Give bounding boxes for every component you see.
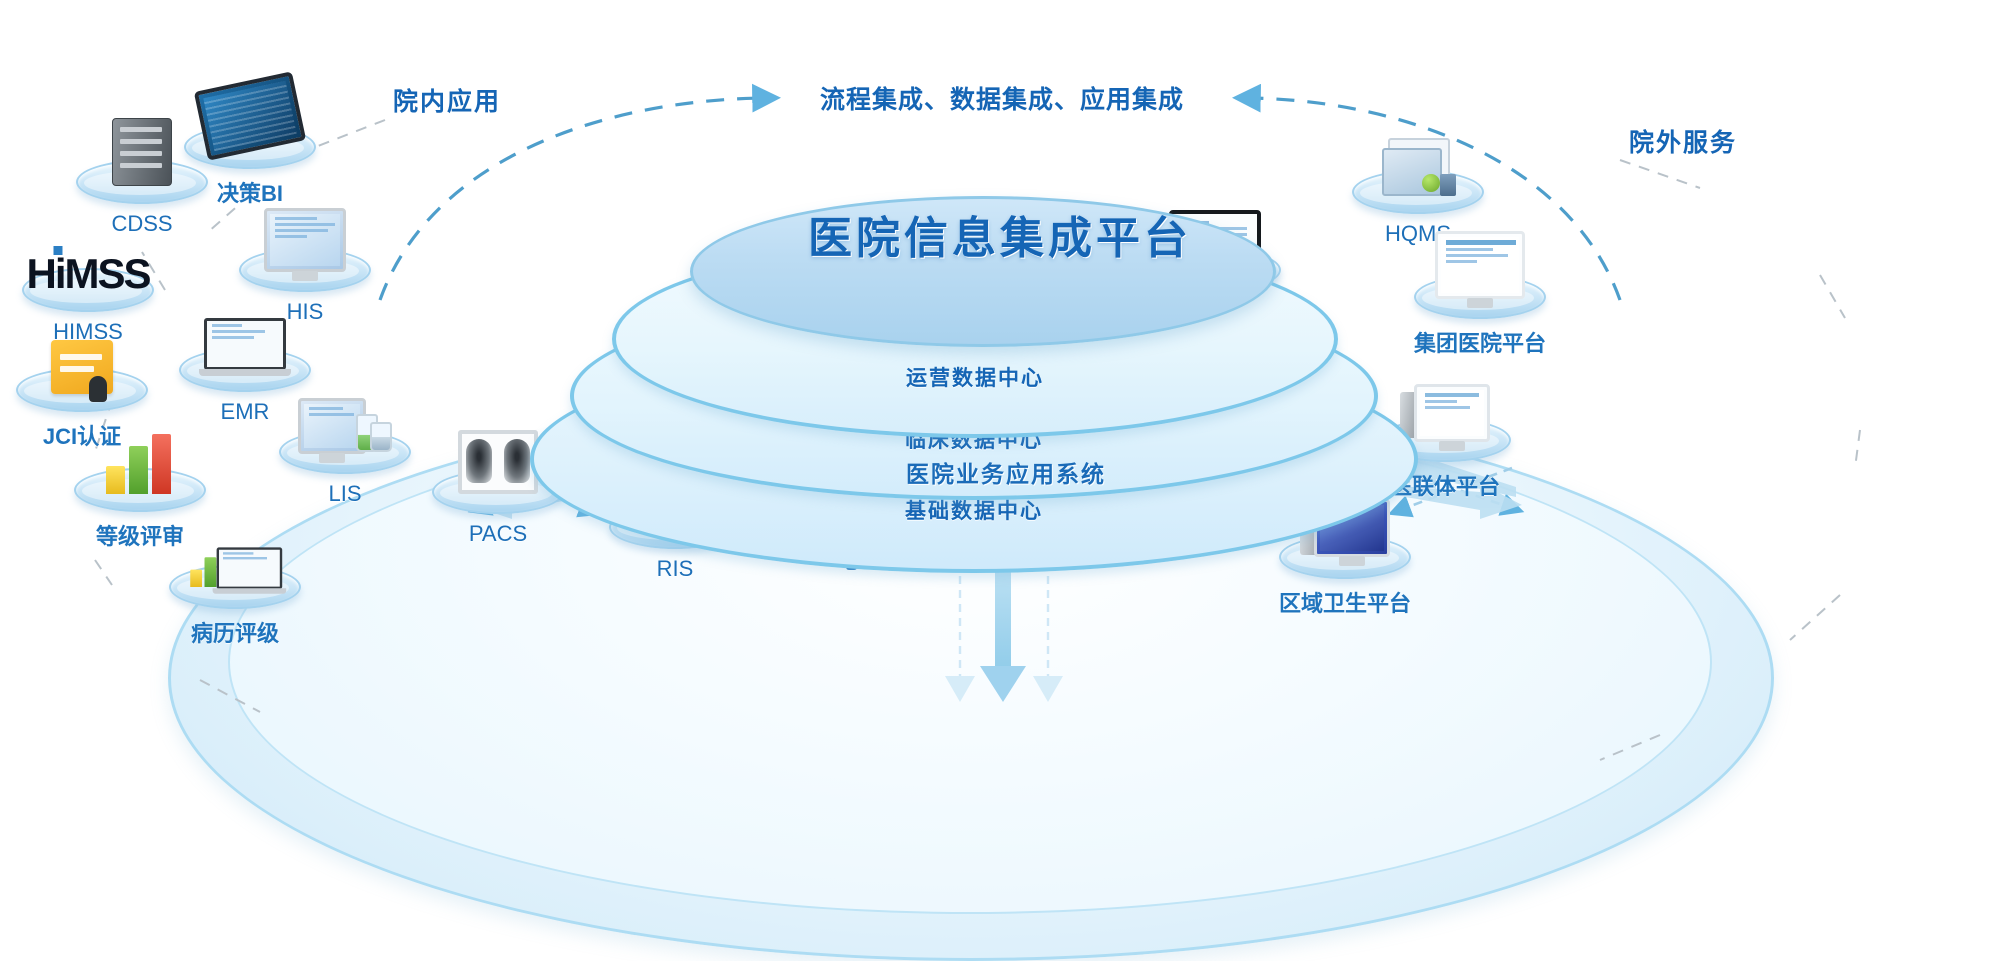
business-systems-label: 医院业务应用系统 <box>886 455 1126 489</box>
chart-laptop-icon <box>189 533 281 589</box>
node-label: RIS <box>585 556 765 582</box>
laptop-icon <box>203 318 287 370</box>
certificate-icon <box>51 340 113 394</box>
node-label: 病历评级 <box>145 616 325 648</box>
node-label: 集团医院平台 <box>1390 326 1570 358</box>
layer-label-operational: 运营数据中心 <box>616 362 1334 392</box>
node-pedestal <box>1279 535 1411 579</box>
page-title: 医院信息集成平台 <box>0 202 2000 266</box>
node-medical-record-rating[interactable]: 病历评级 <box>145 565 325 648</box>
section-header-external: 院外服务 <box>1629 123 1737 159</box>
node-pedestal <box>76 160 208 204</box>
server-icon <box>112 118 172 186</box>
bar-chart-icon <box>104 434 176 494</box>
diagram-canvas: 基础数据中心 临床数据中心 运营数据中心 医院信息集成平台 医院信息集成平台 流… <box>0 0 2000 955</box>
node-label: 区域卫生平台 <box>1255 586 1435 618</box>
node-pedestal <box>279 430 411 474</box>
lab-monitor-icon <box>298 396 392 454</box>
section-header-internal: 院内应用 <box>393 82 501 118</box>
folder-docs-icon <box>1380 138 1456 196</box>
node-regional-health-platform[interactable]: 区域卫生平台 <box>1255 535 1435 618</box>
node-pedestal <box>16 368 148 412</box>
integration-banner-text: 流程集成、数据集成、应用集成 <box>772 80 1232 116</box>
desktop-network-icon <box>1400 384 1490 442</box>
xray-monitor-icon <box>458 430 538 494</box>
node-pedestal <box>179 348 311 392</box>
tablet-icon <box>200 81 300 151</box>
node-pedestal <box>169 565 301 609</box>
node-pedestal <box>74 468 206 512</box>
